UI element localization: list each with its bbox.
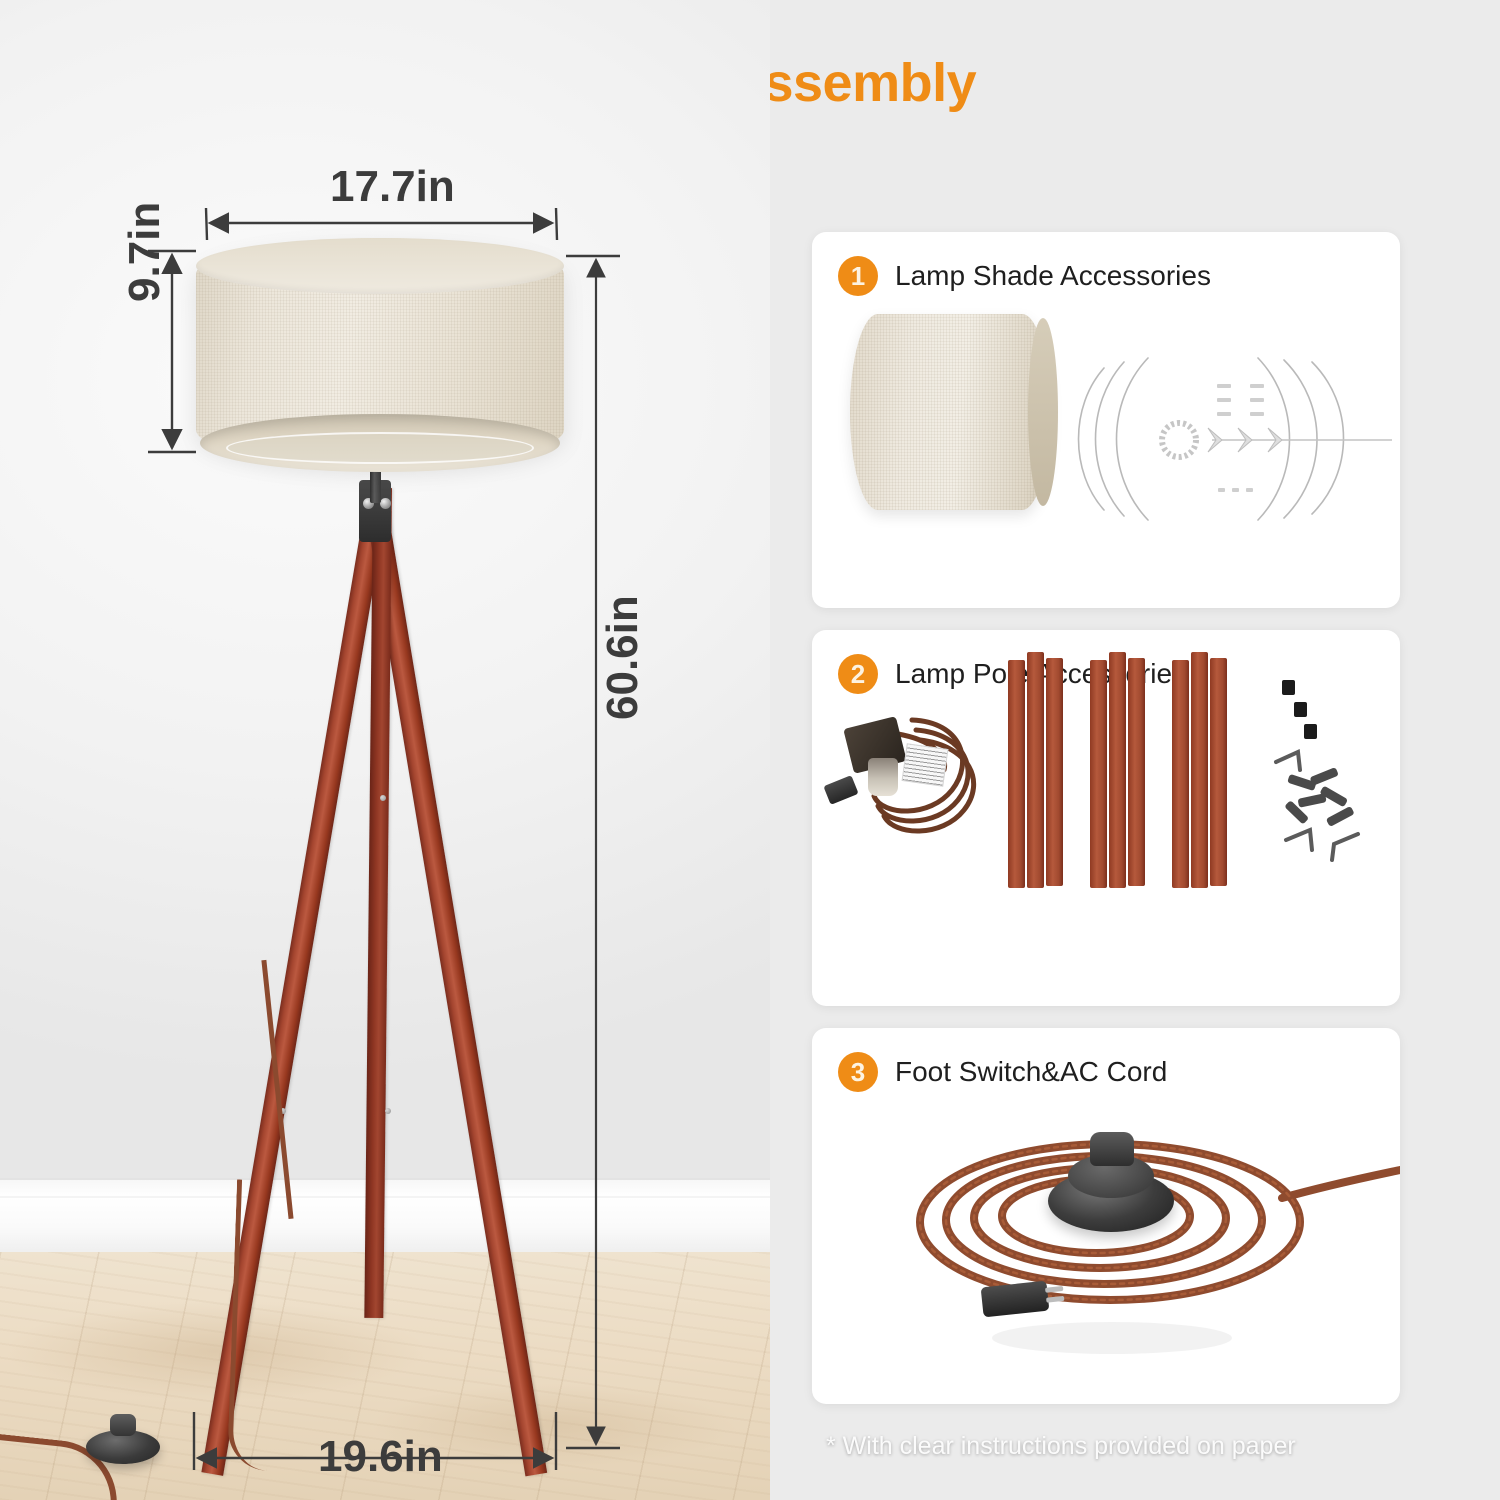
wood-slat <box>1027 652 1044 888</box>
card-3-header: 3 Foot Switch&AC Cord <box>812 1028 1400 1092</box>
wood-slat <box>1191 652 1208 888</box>
bracket-screw <box>380 498 391 509</box>
card-3-body <box>812 1092 1400 1378</box>
card-2-body <box>812 630 1400 916</box>
leg-screw-dot <box>380 795 386 801</box>
foot-switch-button <box>1090 1132 1134 1166</box>
wood-slat <box>1172 660 1189 888</box>
footnote-text: * With clear instructions provided on pa… <box>826 1432 1296 1461</box>
step-badge-3: 3 <box>838 1052 878 1092</box>
warning-label-tag <box>902 743 949 786</box>
shade-wire-frame-parts <box>1062 296 1392 582</box>
accessory-cards: 1 Lamp Shade Accessories <box>812 0 1412 1500</box>
wood-slat <box>1128 658 1145 886</box>
dimension-label-base-spread: 19.6in <box>318 1432 443 1482</box>
lamp-shade-inner-ring <box>226 432 534 464</box>
card-1-header: 1 Lamp Shade Accessories <box>812 232 1400 296</box>
wood-slat <box>1046 658 1063 886</box>
baseboard <box>0 1178 770 1258</box>
wood-slat <box>1090 660 1107 888</box>
dimension-label-shade-height: 9.7in <box>120 202 170 302</box>
card-1-title: Lamp Shade Accessories <box>895 260 1211 292</box>
rolled-lamp-shade-fabric <box>850 314 1050 510</box>
screws-and-wrenches <box>1264 674 1394 874</box>
accessory-card-3[interactable]: 3 Foot Switch&AC Cord <box>812 1028 1400 1404</box>
product-photo: 17.7in 9.7in 60.6in 19.6in <box>0 0 770 1500</box>
lamp-shade-top <box>196 238 564 294</box>
accessory-card-1[interactable]: 1 Lamp Shade Accessories <box>812 232 1400 608</box>
leg-screw-dot <box>385 1108 391 1114</box>
rolled-shade-edge <box>1028 318 1058 506</box>
foot-switch-knob <box>110 1414 136 1436</box>
wood-slat <box>1109 652 1126 888</box>
dimension-label-total-height: 60.6in <box>598 595 648 720</box>
card-1-body <box>812 296 1400 582</box>
step-badge-1: 1 <box>838 256 878 296</box>
lamp-socket-bulb-holder <box>868 758 898 796</box>
accessory-card-2[interactable]: 2 Lamp Pole Accessories <box>812 630 1400 1006</box>
infographic-canvas: Ease of Assembly <box>0 0 1500 1500</box>
card-3-title: Foot Switch&AC Cord <box>895 1056 1167 1088</box>
dimension-label-shade-width: 17.7in <box>330 162 455 212</box>
wood-slat <box>1008 660 1025 888</box>
wood-slat <box>1210 658 1227 886</box>
